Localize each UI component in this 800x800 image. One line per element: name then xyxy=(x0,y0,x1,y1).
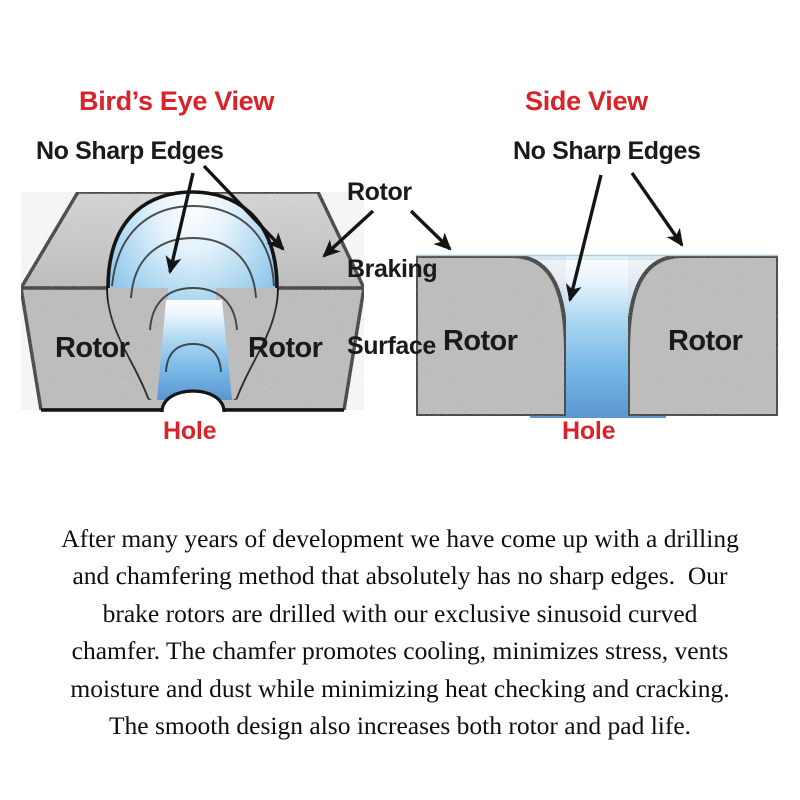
birds-eye-hole-column xyxy=(157,300,232,400)
birds-eye-rotor-label-right: Rotor xyxy=(248,332,322,365)
birds-eye-hole-label: Hole xyxy=(163,419,216,445)
birds-eye-rotor-label-left: Rotor xyxy=(55,332,129,365)
rotor-braking-surface-line-1: Rotor xyxy=(347,180,437,206)
side-view-rotor-label-left: Rotor xyxy=(443,325,517,358)
paragraph-line-4: chamfer. The chamfer promotes cooling, m… xyxy=(0,632,800,669)
page-root: Bird’s Eye View No Sharp Edges Rotor Bra… xyxy=(0,0,800,800)
paragraph-line-3: brake rotors are drilled with our exclus… xyxy=(0,595,800,632)
side-view-hole-label: Hole xyxy=(562,419,615,445)
birds-eye-no-sharp-edges-label: No Sharp Edges xyxy=(36,139,224,165)
paragraph-line-6: The smooth design also increases both ro… xyxy=(0,707,800,744)
arrow-side-no-sharp-edges-right xyxy=(632,173,682,245)
side-view-title: Side View xyxy=(525,88,648,116)
rotor-braking-surface-line-2: Braking xyxy=(347,257,437,283)
birds-eye-view-graphic xyxy=(21,192,364,412)
rotor-braking-surface-label: Rotor Braking Surface xyxy=(347,128,437,411)
paragraph-line-5: moisture and dust while minimizing heat … xyxy=(0,670,800,707)
birds-eye-view-title: Bird’s Eye View xyxy=(79,88,274,116)
side-view-rotor-label-right: Rotor xyxy=(668,325,742,358)
description-paragraph: After many years of development we have … xyxy=(0,520,800,745)
rotor-braking-surface-line-3: Surface xyxy=(347,334,437,360)
paragraph-line-2: and chamfering method that absolutely ha… xyxy=(0,557,800,594)
paragraph-line-1: After many years of development we have … xyxy=(0,520,800,557)
side-view-no-sharp-edges-label: No Sharp Edges xyxy=(513,139,701,165)
